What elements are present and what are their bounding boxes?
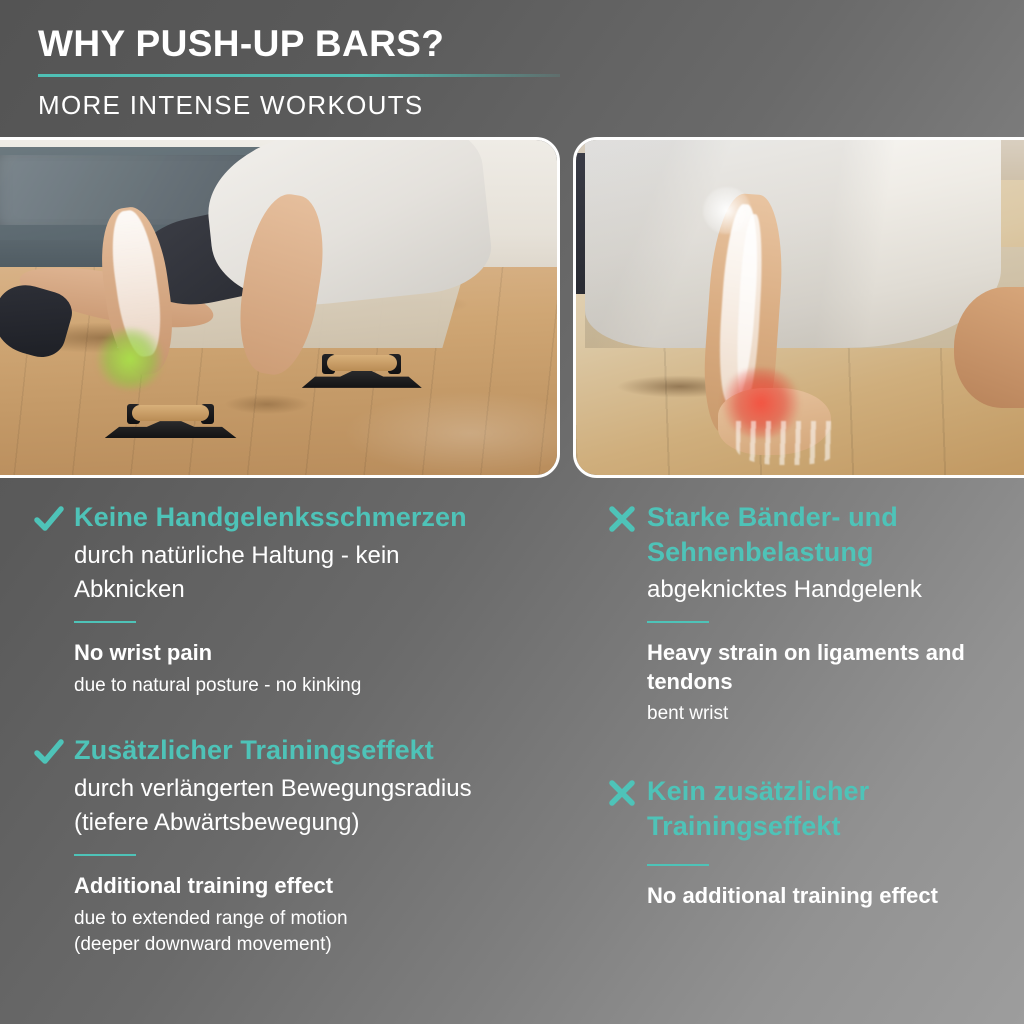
torso-shirt [585, 140, 1000, 348]
benefit-en-title: Additional training effect [74, 872, 592, 901]
elbow-joint-highlight [703, 187, 750, 234]
drawbacks-column: Starke Bänder- und Sehnenbelastung abgek… [605, 500, 1020, 936]
benefits-column: Keine Handgelenksschmerzen durch natürli… [32, 500, 592, 984]
photo-pushup-bars [0, 137, 560, 478]
benefit-en-subline: due to extended range of motion (deeper … [74, 906, 592, 958]
benefit-headline: Zusätzlicher Trainingseffekt [74, 733, 434, 768]
header: WHY PUSH-UP BARS? MORE INTENSE WORKOUTS [38, 22, 638, 121]
wrist-highlight-green [93, 328, 167, 390]
benefit-subline: durch verlängerten Bewegungsradius (tief… [74, 772, 592, 840]
drawback-item: Kein zusätzlicher Trainingseffekt No add… [605, 774, 1020, 911]
x-icon [605, 502, 639, 536]
benefit-en-title: No wrist pain [74, 639, 592, 668]
benefit-subline: durch natürliche Haltung - kein Abknicke… [74, 539, 592, 607]
section-divider [74, 621, 136, 623]
drawback-en-title: Heavy strain on ligaments and tendons [647, 639, 1020, 696]
section-divider [74, 854, 136, 856]
drawback-item: Starke Bänder- und Sehnenbelastung abgek… [605, 500, 1020, 728]
title-underline [38, 74, 560, 77]
benefit-item: Zusätzlicher Trainingseffekt durch verlä… [32, 733, 592, 958]
fingers [736, 421, 840, 465]
drawback-en-title: No additional training effect [647, 882, 1020, 911]
drawback-headline: Kein zusätzlicher Trainingseffekt [647, 774, 1020, 844]
photo-pushup-floor [573, 137, 1024, 478]
drawback-subline: abgeknicktes Handgelenk [647, 573, 1020, 607]
section-divider [647, 621, 709, 623]
page-title: WHY PUSH-UP BARS? [38, 22, 638, 66]
infographic-page: WHY PUSH-UP BARS? MORE INTENSE WORKOUTS [0, 0, 1024, 1024]
push-up-bar [105, 394, 237, 438]
benefit-en-subline: due to natural posture - no kinking [74, 673, 592, 699]
check-icon [32, 502, 66, 536]
page-subtitle: MORE INTENSE WORKOUTS [38, 90, 638, 121]
x-icon [605, 776, 639, 810]
check-icon [32, 735, 66, 769]
push-up-bar [302, 344, 422, 388]
benefit-headline: Keine Handgelenksschmerzen [74, 500, 467, 535]
benefit-item: Keine Handgelenksschmerzen durch natürli… [32, 500, 592, 699]
drawback-headline: Starke Bänder- und Sehnenbelastung [647, 500, 1020, 570]
drawback-en-subline: bent wrist [647, 701, 1020, 727]
section-divider [647, 864, 709, 866]
